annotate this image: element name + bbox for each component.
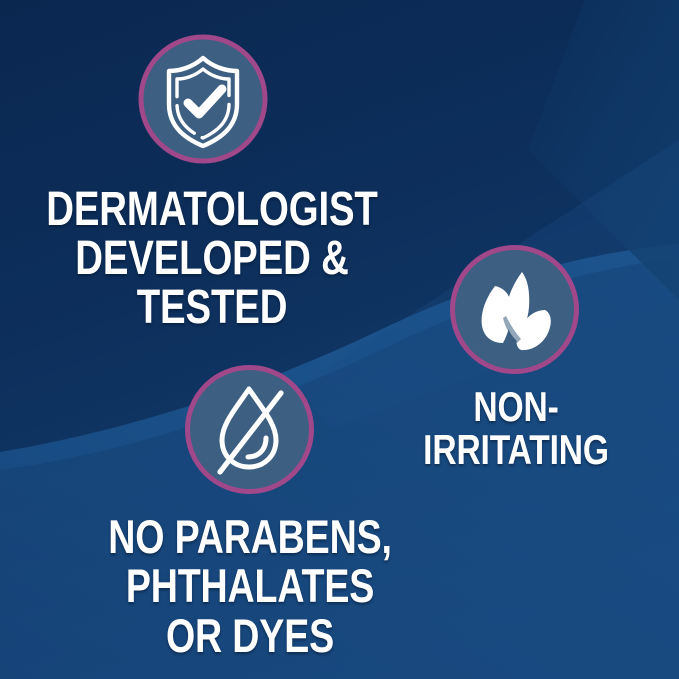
feature-label-dermatologist: DERMATOLOGIST DEVELOPED & TESTED bbox=[42, 186, 381, 333]
feature-label-non-irritating: NON-IRRITATING bbox=[386, 386, 647, 472]
feature-label-no-parabens: NO PARABENS, PHTHALATES OR DYES bbox=[79, 512, 421, 660]
no-droplet-icon bbox=[184, 364, 315, 495]
benefits-poster: DERMATOLOGIST DEVELOPED & TESTED NON-IRR… bbox=[0, 0, 679, 679]
shield-check-icon bbox=[138, 34, 268, 164]
feathers-icon bbox=[449, 244, 580, 375]
